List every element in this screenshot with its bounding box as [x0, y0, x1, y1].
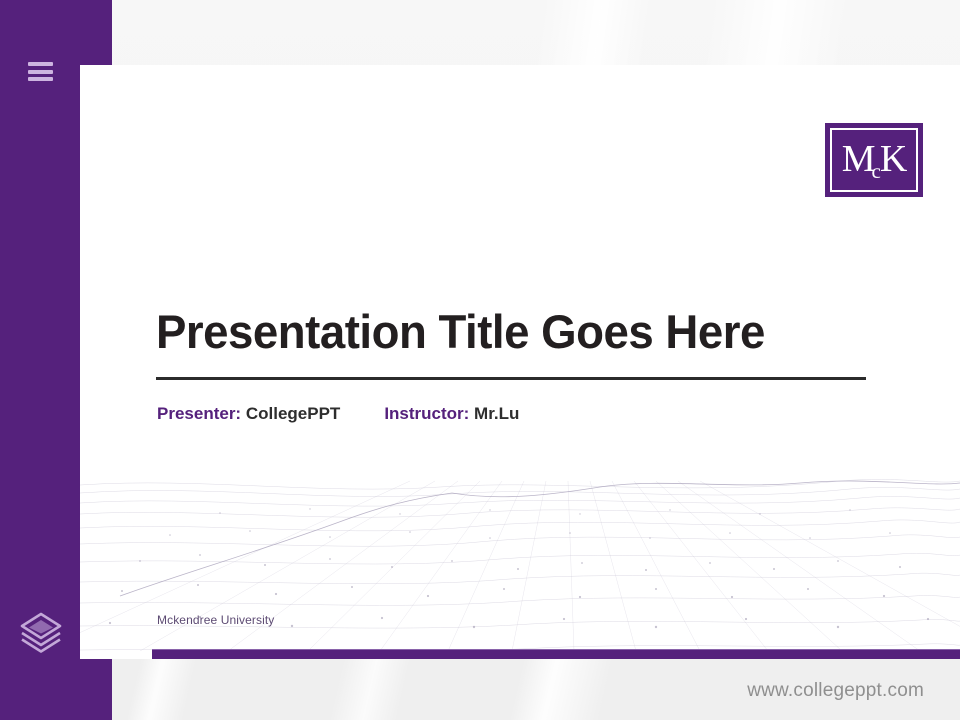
logo-letter-c: c: [872, 159, 880, 183]
hamburger-bar-1: [28, 62, 53, 66]
instructor-name: Mr.Lu: [474, 404, 519, 423]
slide-bottom-accent-bar: [152, 649, 960, 659]
hamburger-menu-icon[interactable]: [28, 62, 53, 81]
logo-wordmark: McK: [842, 140, 907, 178]
layers-stack-icon[interactable]: [15, 605, 67, 657]
title-underline-rule: [156, 377, 866, 380]
presenter-name: CollegePPT: [246, 404, 340, 423]
slide-canvas[interactable]: McK Presentation Title Goes Here Present…: [80, 65, 960, 659]
logo-letter-k: K: [880, 138, 906, 180]
instructor-label: Instructor:: [384, 404, 469, 423]
site-watermark: www.collegeppt.com: [747, 680, 924, 702]
hamburger-bar-3: [28, 77, 53, 81]
slide-title: Presentation Title Goes Here: [156, 307, 874, 356]
presentation-slide-viewer: McK Presentation Title Goes Here Present…: [0, 0, 960, 720]
hamburger-bar-2: [28, 70, 53, 74]
organization-name: Mckendree University: [157, 613, 274, 627]
presenter-label: Presenter:: [157, 404, 241, 423]
logo-inner-border: McK: [830, 128, 918, 192]
logo-letter-m: M: [842, 138, 875, 180]
slide-byline: Presenter: CollegePPTInstructor: Mr.Lu: [157, 404, 519, 424]
mckendree-logo: McK: [825, 123, 923, 197]
